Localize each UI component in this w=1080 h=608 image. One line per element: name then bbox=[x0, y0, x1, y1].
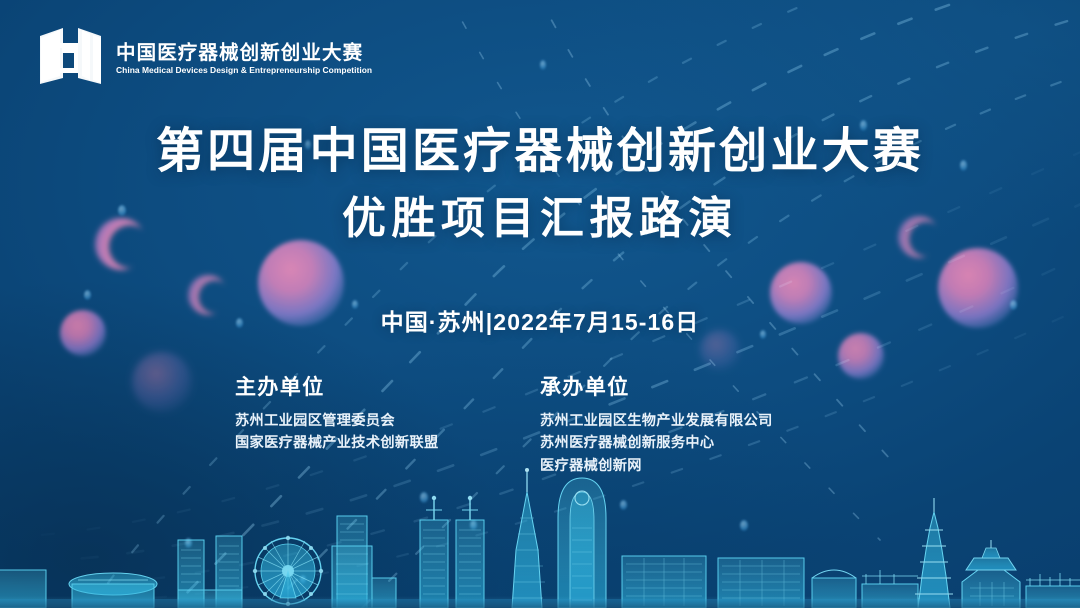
organizer-co-title: 承办单位 bbox=[540, 371, 845, 401]
headline-block: 第四届中国医疗器械创新创业大赛 优胜项目汇报路演 bbox=[0, 124, 1080, 245]
organizer-host-title: 主办单位 bbox=[235, 371, 540, 401]
organizer-co-line-1: 苏州工业园区生物产业发展有限公司 bbox=[540, 410, 845, 432]
event-location-date: 中国·苏州|2022年7月15-16日 bbox=[0, 303, 1080, 337]
organizer-host-line-1: 苏州工业园区管理委员会 bbox=[235, 410, 540, 432]
organizer-host-line-2: 国家医疗器械产业技术创新联盟 bbox=[235, 432, 540, 454]
open-book-gate-logo-icon bbox=[38, 26, 104, 88]
competition-logo: 中国医疗器械创新创业大赛 China Medical Devices Desig… bbox=[38, 26, 376, 88]
skyline-baseline bbox=[0, 599, 1080, 608]
organizer-co-line-2: 苏州医疗器械创新服务中心 bbox=[540, 432, 845, 454]
logo-title-en: China Medical Devices Design & Entrepren… bbox=[116, 66, 372, 75]
headline-line-1: 第四届中国医疗器械创新创业大赛 bbox=[0, 124, 1080, 181]
logo-title-cn: 中国医疗器械创新创业大赛 bbox=[116, 43, 376, 63]
poster-canvas: 中国医疗器械创新创业大赛 China Medical Devices Desig… bbox=[0, 0, 1080, 608]
city-skyline-silhouette bbox=[0, 458, 1080, 608]
headline-line-2: 优胜项目汇报路演 bbox=[0, 193, 1080, 245]
